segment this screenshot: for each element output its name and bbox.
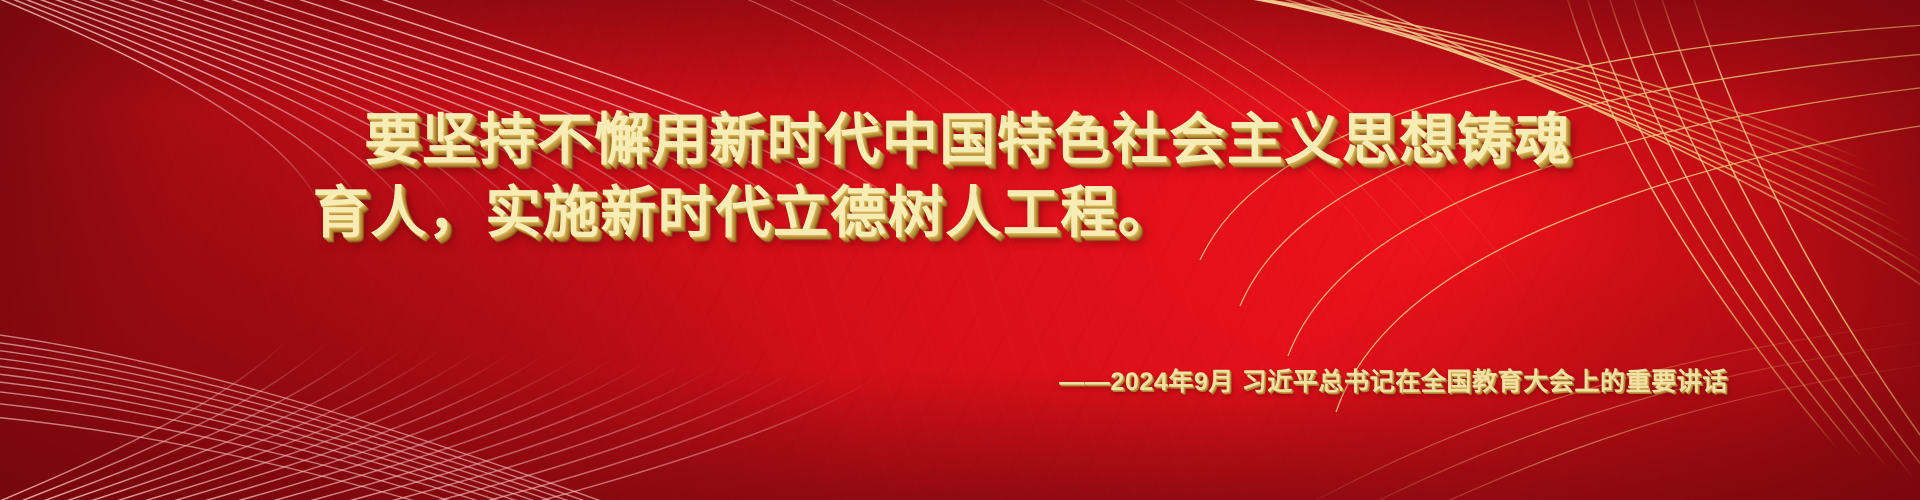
headline-block: 要坚持不懈用新时代中国特色社会主义思想铸魂 育人，实施新时代立德树人工程。: [0, 104, 1920, 250]
banner-content: 要坚持不懈用新时代中国特色社会主义思想铸魂 育人，实施新时代立德树人工程。 ——…: [0, 0, 1920, 500]
attribution-text: ——2024年9月 习近平总书记在全国教育大会上的重要讲话: [0, 362, 1920, 398]
headline-line-1: 要坚持不懈用新时代中国特色社会主义思想铸魂: [0, 104, 1920, 177]
propaganda-banner: 要坚持不懈用新时代中国特色社会主义思想铸魂 育人，实施新时代立德树人工程。 ——…: [0, 0, 1920, 500]
headline-line-2: 育人，实施新时代立德树人工程。: [0, 177, 1920, 250]
